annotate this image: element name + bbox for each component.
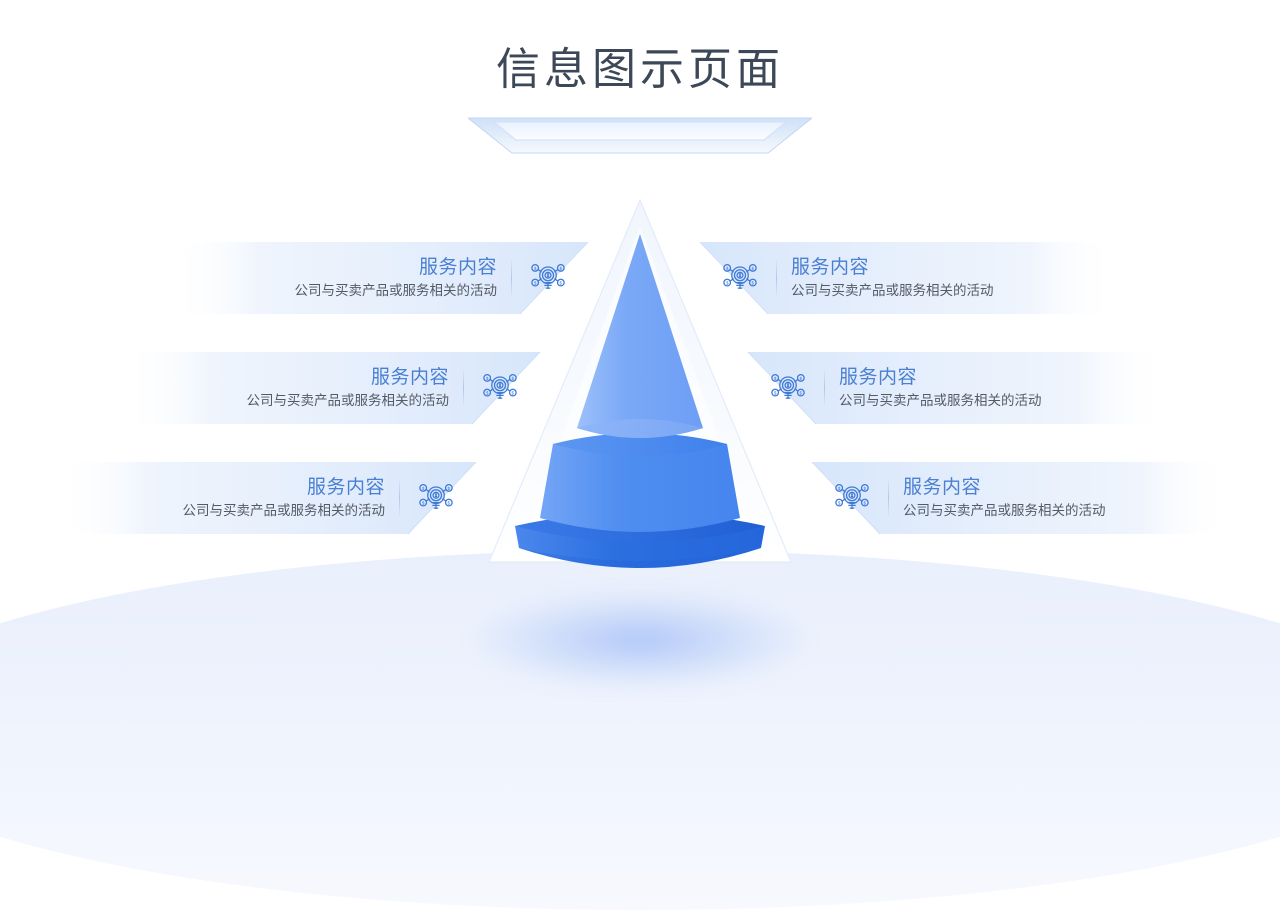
title-banner-trapezoid <box>468 116 812 156</box>
block-left-middle[interactable]: 服务内容 公司与买卖产品或服务相关的活动 $$ <box>120 352 540 424</box>
lightbulb-money-icon: $$ $$ <box>414 476 458 520</box>
svg-text:$: $ <box>726 266 729 271</box>
svg-text:$: $ <box>512 390 515 395</box>
content-blocks: 服务内容 公司与买卖产品或服务相关的活动 $$ <box>0 0 1280 720</box>
block-text: 服务内容 公司与买卖产品或服务相关的活动 <box>295 255 498 301</box>
svg-text:$: $ <box>512 376 515 381</box>
svg-text:$: $ <box>448 500 451 505</box>
block-heading: 服务内容 <box>307 475 385 501</box>
block-text: 服务内容 公司与买卖产品或服务相关的活动 <box>791 255 994 301</box>
svg-text:$: $ <box>422 486 425 491</box>
page-title-area: 信息图示页面 <box>0 46 1280 94</box>
svg-text:$: $ <box>752 280 755 285</box>
svg-text:$: $ <box>560 280 563 285</box>
lightbulb-money-icon: $$ $$ <box>830 476 874 520</box>
block-description: 公司与买卖产品或服务相关的活动 <box>183 501 386 521</box>
divider <box>463 368 464 408</box>
divider <box>399 478 400 518</box>
svg-text:$: $ <box>864 486 867 491</box>
block-right-middle[interactable]: $$ $$ 服务内容 公司与买卖产品或服务相关的活动 <box>748 352 1168 424</box>
lightbulb-money-icon: $$ $$ <box>718 256 762 300</box>
svg-text:$: $ <box>534 280 537 285</box>
block-left-top[interactable]: 服务内容 公司与买卖产品或服务相关的活动 $$ <box>168 242 588 314</box>
block-text: 服务内容 公司与买卖产品或服务相关的活动 <box>839 365 1042 411</box>
divider <box>888 478 889 518</box>
block-right-bottom[interactable]: $$ $$ 服务内容 公司与买卖产品或服务相关的活动 <box>812 462 1232 534</box>
block-left-bottom[interactable]: 服务内容 公司与买卖产品或服务相关的活动 $$ <box>56 462 476 534</box>
lightbulb-money-icon: $$ $$ <box>766 366 810 410</box>
block-heading: 服务内容 <box>791 255 869 281</box>
block-heading: 服务内容 <box>371 365 449 391</box>
divider <box>511 258 512 298</box>
svg-text:$: $ <box>448 486 451 491</box>
block-description: 公司与买卖产品或服务相关的活动 <box>295 281 498 301</box>
svg-text:$: $ <box>560 266 563 271</box>
svg-text:$: $ <box>838 486 841 491</box>
block-text: 服务内容 公司与买卖产品或服务相关的活动 <box>903 475 1106 521</box>
block-description: 公司与买卖产品或服务相关的活动 <box>839 391 1042 411</box>
svg-text:$: $ <box>800 390 803 395</box>
svg-text:$: $ <box>838 500 841 505</box>
divider <box>824 368 825 408</box>
svg-text:$: $ <box>422 500 425 505</box>
block-description: 公司与买卖产品或服务相关的活动 <box>247 391 450 411</box>
block-text: 服务内容 公司与买卖产品或服务相关的活动 <box>247 365 450 411</box>
svg-text:$: $ <box>726 280 729 285</box>
block-heading: 服务内容 <box>839 365 917 391</box>
block-right-top[interactable]: $$ $$ 服务内容 公司与买卖产品或服务相关的活动 <box>700 242 1120 314</box>
svg-text:$: $ <box>774 390 777 395</box>
svg-text:$: $ <box>864 500 867 505</box>
block-text: 服务内容 公司与买卖产品或服务相关的活动 <box>183 475 386 521</box>
svg-text:$: $ <box>486 390 489 395</box>
block-description: 公司与买卖产品或服务相关的活动 <box>903 501 1106 521</box>
block-heading: 服务内容 <box>419 255 497 281</box>
svg-text:$: $ <box>752 266 755 271</box>
svg-text:$: $ <box>534 266 537 271</box>
lightbulb-money-icon: $$ $$ <box>526 256 570 300</box>
lightbulb-money-icon: $$ $$ <box>478 366 522 410</box>
block-heading: 服务内容 <box>903 475 981 501</box>
page-title: 信息图示页面 <box>0 46 1280 94</box>
svg-text:$: $ <box>486 376 489 381</box>
divider <box>776 258 777 298</box>
svg-text:$: $ <box>774 376 777 381</box>
svg-text:$: $ <box>800 376 803 381</box>
block-description: 公司与买卖产品或服务相关的活动 <box>791 281 994 301</box>
